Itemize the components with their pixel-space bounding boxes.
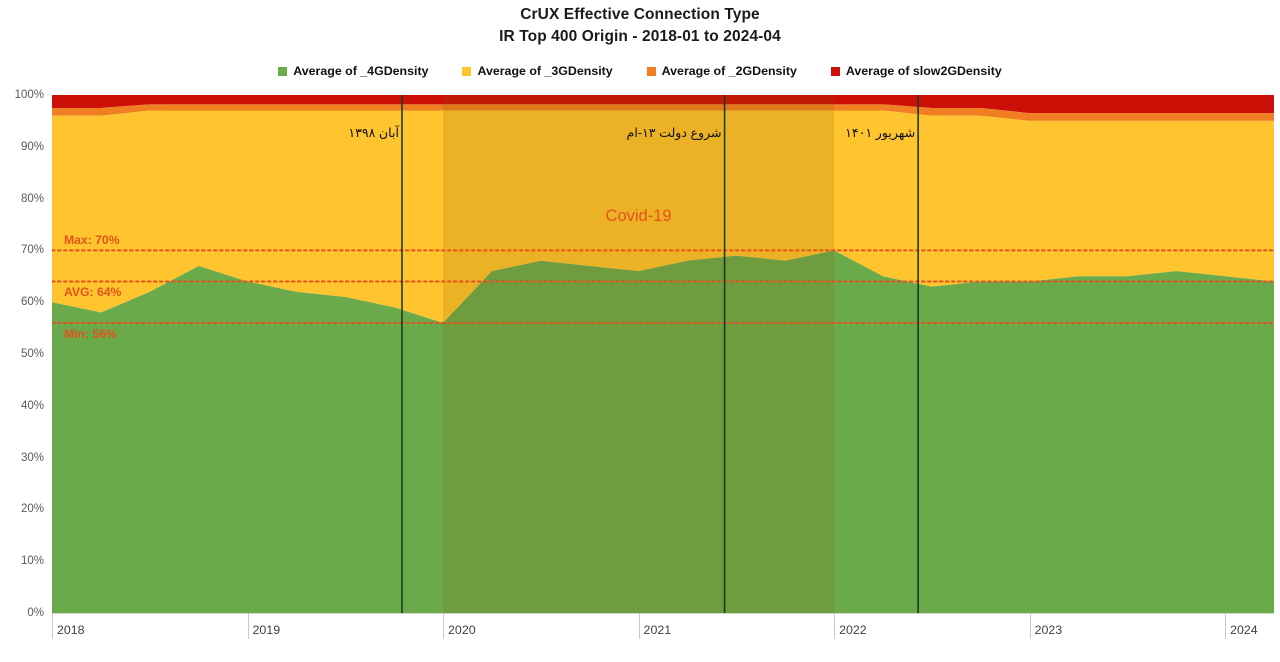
y-axis-tick-label: 20%	[21, 503, 44, 515]
x-axis-line	[52, 613, 1274, 614]
legend-swatch-icon	[462, 67, 471, 76]
legend-item[interactable]: Average of _2GDensity	[647, 64, 797, 78]
legend-swatch-icon	[647, 67, 656, 76]
shaded-region-covid-19	[443, 95, 834, 613]
x-axis-tick-label: 2023	[1035, 623, 1063, 637]
y-axis-tick-label: 0%	[27, 607, 44, 619]
legend-item[interactable]: Average of _3GDensity	[462, 64, 612, 78]
y-axis-tick-label: 100%	[15, 89, 44, 101]
legend-item-label: Average of _3GDensity	[477, 64, 612, 78]
y-axis-tick-label: 50%	[21, 348, 44, 360]
chart-title-block: CrUX Effective Connection Type IR Top 40…	[0, 4, 1280, 49]
reference-label-max: Max: 70%	[64, 233, 120, 247]
reference-label-avg: AVG: 64%	[64, 285, 121, 299]
x-axis: 2018201920202021202220232024	[52, 613, 1274, 658]
page-title: CrUX Effective Connection Type	[0, 4, 1280, 26]
y-axis-tick-label: 40%	[21, 400, 44, 412]
page-subtitle: IR Top 400 Origin - 2018-01 to 2024-04	[0, 26, 1280, 48]
legend-item[interactable]: Average of slow2GDensity	[831, 64, 1002, 78]
x-axis-tick-mark	[248, 613, 249, 639]
x-axis-tick-label: 2022	[839, 623, 867, 637]
event-marker-label-shahrivar-1401: شهریور ۱۴۰۱	[845, 125, 915, 140]
chart-legend: Average of _4GDensityAverage of _3GDensi…	[0, 64, 1280, 78]
y-axis: 0%10%20%30%40%50%60%70%80%90%100%	[0, 95, 48, 613]
event-marker-label-aban-1398: آبان ۱۳۹۸	[348, 125, 399, 140]
stacked-area-plot	[52, 95, 1274, 613]
x-axis-tick-label: 2020	[448, 623, 476, 637]
legend-swatch-icon	[831, 67, 840, 76]
legend-item[interactable]: Average of _4GDensity	[278, 64, 428, 78]
x-axis-tick-label: 2018	[57, 623, 85, 637]
y-axis-tick-label: 70%	[21, 244, 44, 256]
legend-item-label: Average of _4GDensity	[293, 64, 428, 78]
x-axis-tick-label: 2019	[253, 623, 281, 637]
x-axis-tick-mark	[443, 613, 444, 639]
x-axis-tick-label: 2021	[644, 623, 672, 637]
x-axis-tick-mark	[1030, 613, 1031, 639]
legend-item-label: Average of _2GDensity	[662, 64, 797, 78]
y-axis-tick-label: 10%	[21, 555, 44, 567]
x-axis-tick-mark	[1225, 613, 1226, 639]
y-axis-tick-label: 80%	[21, 193, 44, 205]
legend-swatch-icon	[278, 67, 287, 76]
y-axis-tick-label: 30%	[21, 452, 44, 464]
x-axis-tick-mark	[639, 613, 640, 639]
y-axis-tick-label: 60%	[21, 296, 44, 308]
reference-label-min: Min: 56%	[64, 327, 117, 341]
chart-container: CrUX Effective Connection Type IR Top 40…	[0, 0, 1280, 662]
y-axis-tick-label: 90%	[21, 141, 44, 153]
x-axis-tick-mark	[834, 613, 835, 639]
x-axis-tick-label: 2024	[1230, 623, 1258, 637]
legend-item-label: Average of slow2GDensity	[846, 64, 1002, 78]
event-marker-label-dolat-13: شروع دولت ۱۳-ام	[627, 125, 722, 140]
x-axis-tick-mark	[52, 613, 53, 639]
plot-area	[52, 95, 1274, 613]
shaded-region-label-covid-19: Covid-19	[606, 207, 672, 226]
